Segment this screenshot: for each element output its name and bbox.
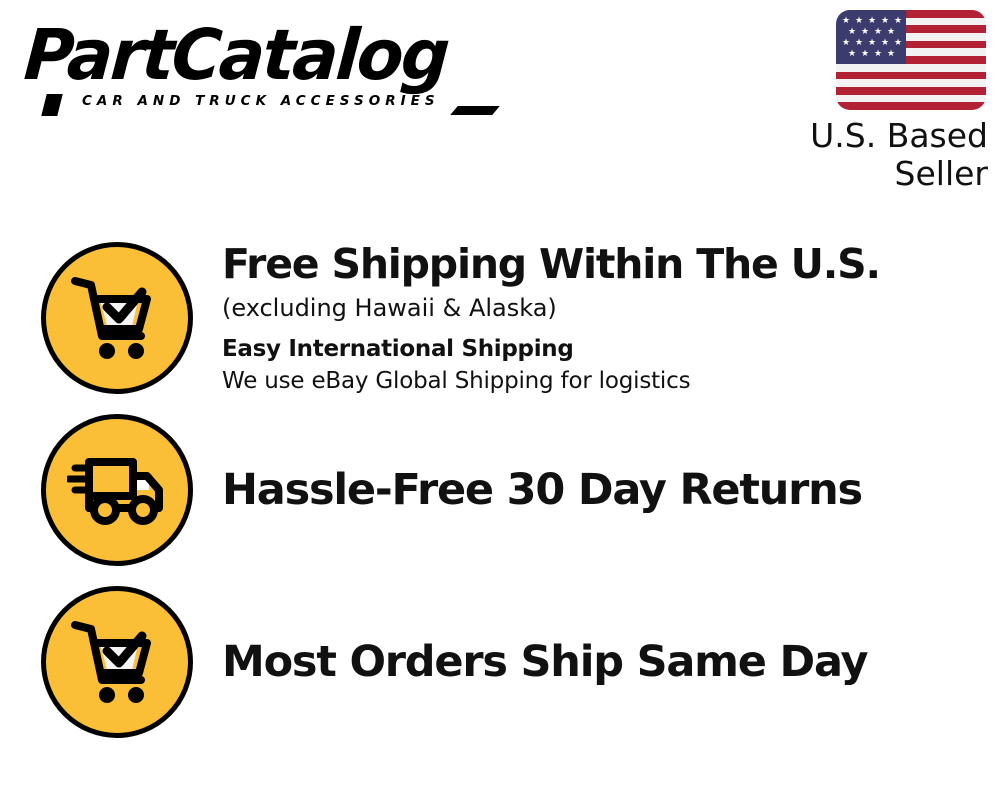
feature-sub-heading: Easy International Shipping	[222, 333, 980, 365]
feature-title: Hassle-Free 30 Day Returns	[222, 465, 980, 515]
feature-text-block: Hassle-Free 30 Day Returns	[222, 465, 1000, 515]
page-header: PartCatalog CAR AND TRUCK ACCESSORIES ★ …	[0, 0, 1000, 175]
feature-title: Most Orders Ship Same Day	[222, 637, 980, 687]
feature-text-block: Most Orders Ship Same Day	[222, 637, 1000, 687]
logo-accent-right	[450, 106, 500, 115]
logo-wordmark: PartCatalog	[22, 18, 483, 92]
feature-subtitle: (excluding Hawaii & Alaska)	[222, 291, 980, 325]
shopping-cart-check-icon	[41, 242, 193, 394]
us-based-seller-label: U.S. Based Seller	[722, 117, 988, 193]
brand-logo[interactable]: PartCatalog CAR AND TRUCK ACCESSORIES	[22, 18, 492, 118]
shopping-cart-check-icon	[41, 586, 193, 738]
feature-row: Hassle-Free 30 Day Returns	[0, 404, 1000, 576]
logo-accent-left	[41, 94, 62, 116]
feature-title: Free Shipping Within The U.S.	[222, 239, 980, 289]
us-flag-icon: ★ ★ ★ ★ ★ ★ ★ ★ ★ ★ ★ ★ ★ ★ ★ ★ ★ ★	[836, 10, 986, 110]
delivery-truck-icon	[41, 414, 193, 566]
us-based-seller-badge: ★ ★ ★ ★ ★ ★ ★ ★ ★ ★ ★ ★ ★ ★ ★ ★ ★ ★ U.S.…	[722, 10, 992, 193]
feature-row: Most Orders Ship Same Day	[0, 576, 1000, 748]
feature-list: Free Shipping Within The U.S. (excluding…	[0, 232, 1000, 748]
feature-text-block: Free Shipping Within The U.S. (excluding…	[222, 239, 1000, 397]
feature-row: Free Shipping Within The U.S. (excluding…	[0, 232, 1000, 404]
feature-sub-detail: We use eBay Global Shipping for logistic…	[222, 365, 980, 397]
